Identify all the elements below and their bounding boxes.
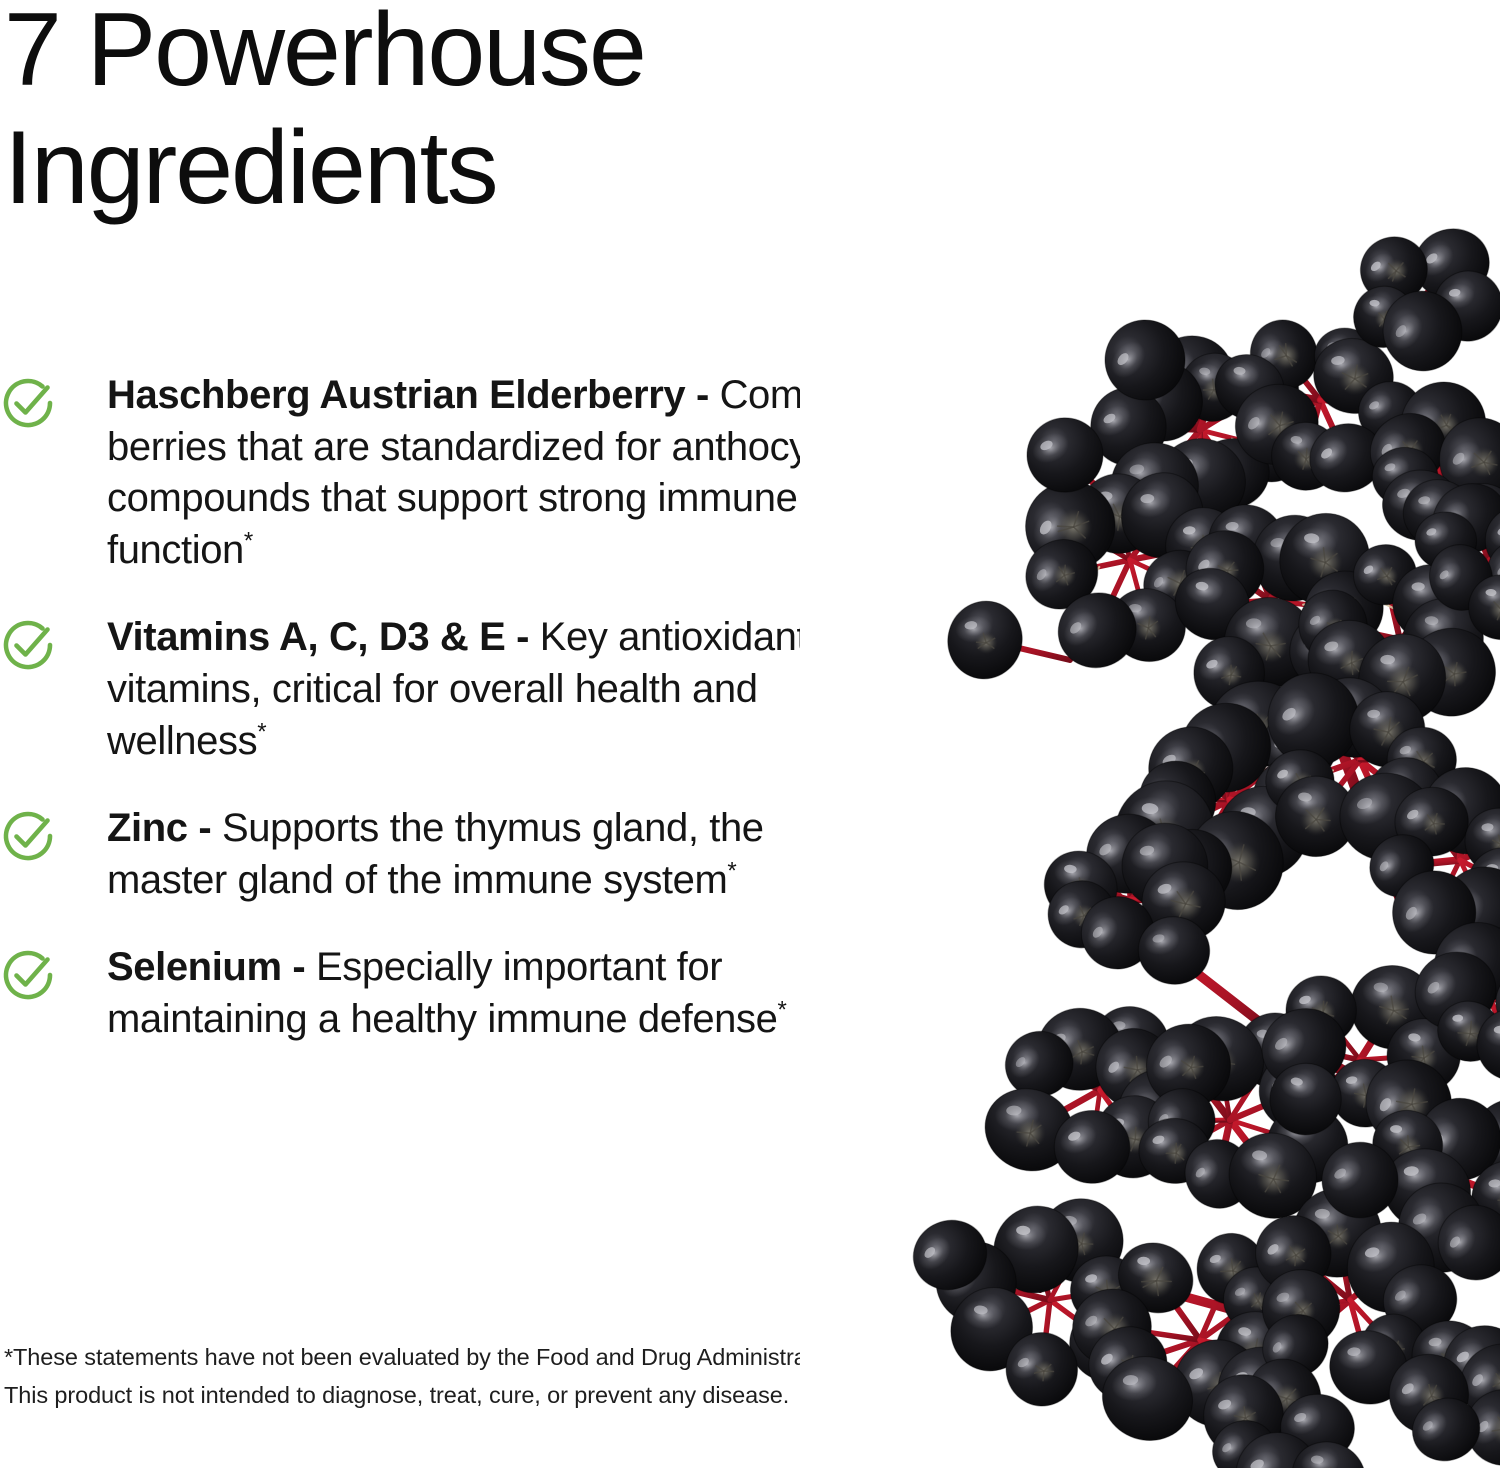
- page-title: 7 Powerhouse Ingredients: [4, 0, 1064, 227]
- footnote-marker: *: [777, 997, 786, 1024]
- footnote-marker: *: [257, 718, 266, 745]
- list-item-lead: Zinc -: [107, 806, 211, 850]
- list-item: Selenium - Especially important for main…: [0, 942, 975, 1045]
- list-item-text: Zinc - Supports the thymus gland, the ma…: [62, 803, 892, 906]
- footnote-marker: *: [727, 857, 736, 884]
- list-item: Zinc - Supports the thymus gland, the ma…: [0, 803, 975, 906]
- list-item: Vitamins A, C, D3 & E - Key antioxidant …: [0, 612, 975, 767]
- list-item: Haschberg Austrian Elderberry - Comes fr…: [0, 370, 975, 576]
- check-circle-icon: [0, 370, 62, 431]
- list-item-text: Vitamins A, C, D3 & E - Key antioxidant …: [62, 612, 917, 767]
- disclaimer-text: *These statements have not been evaluate…: [4, 1338, 904, 1414]
- check-circle-icon: [0, 803, 62, 864]
- berry-fruits: [903, 221, 1500, 1468]
- list-item-lead: Vitamins A, C, D3 & E -: [107, 615, 529, 659]
- list-item-lead: Haschberg Austrian Elderberry -: [107, 373, 709, 417]
- ingredient-list: Haschberg Austrian Elderberry - Comes fr…: [0, 370, 975, 1082]
- list-item-text: Selenium - Especially important for main…: [62, 942, 792, 1045]
- check-circle-icon: [0, 942, 62, 1003]
- list-item-lead: Selenium -: [107, 945, 305, 989]
- berry-stems: [950, 264, 1500, 1468]
- list-item-text: Haschberg Austrian Elderberry - Comes fr…: [62, 370, 942, 576]
- check-circle-icon: [0, 612, 62, 673]
- footnote-marker: *: [244, 527, 253, 554]
